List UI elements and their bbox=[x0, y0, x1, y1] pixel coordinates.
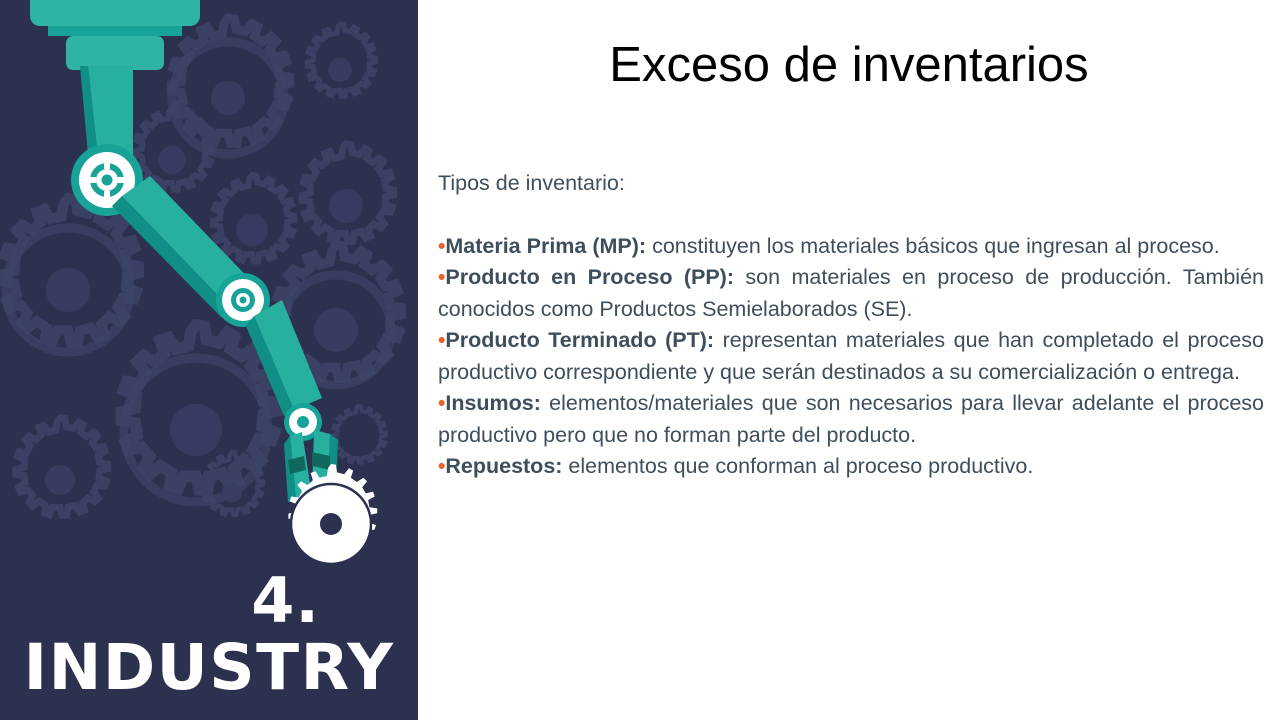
arm-lower-link bbox=[246, 300, 322, 416]
list-item-description: elementos que conforman al proceso produ… bbox=[568, 454, 1033, 478]
arm-ceiling-mount bbox=[30, 0, 200, 70]
list-item-term: Repuestos: bbox=[445, 454, 562, 478]
brand-number: 4. bbox=[0, 570, 418, 632]
list-item-term: Materia Prima (MP): bbox=[445, 234, 646, 258]
list-item-description: constituyen los materiales básicos que i… bbox=[652, 234, 1220, 258]
page-title: Exceso de inventarios bbox=[430, 36, 1268, 94]
list-item: •Insumos: elementos/materiales que son n… bbox=[438, 388, 1264, 451]
slide-canvas: 4. INDUSTRY Exceso de inventarios Tipos … bbox=[0, 0, 1280, 720]
body-text-block: Tipos de inventario: •Materia Prima (MP)… bbox=[438, 168, 1264, 483]
list-item-term: Producto en Proceso (PP): bbox=[445, 265, 734, 289]
list-item: •Materia Prima (MP): constituyen los mat… bbox=[438, 231, 1264, 263]
left-graphic-panel: 4. INDUSTRY bbox=[0, 0, 418, 720]
list-item-term: Insumos: bbox=[445, 391, 541, 415]
list-item: •Producto Terminado (PT): representan ma… bbox=[438, 325, 1264, 388]
list-item: •Producto en Proceso (PP): son materiale… bbox=[438, 262, 1264, 325]
brand-block: 4. INDUSTRY bbox=[0, 570, 418, 702]
brand-name: INDUSTRY bbox=[0, 634, 418, 702]
list-item-term: Producto Terminado (PT): bbox=[445, 328, 714, 352]
list-item: •Repuestos: elementos que conforman al p… bbox=[438, 451, 1264, 483]
lead-line: Tipos de inventario: bbox=[438, 168, 1264, 200]
content-area: Exceso de inventarios Tipos de inventari… bbox=[418, 0, 1280, 720]
list-item-description: elementos/materiales que son necesarios … bbox=[438, 391, 1264, 447]
